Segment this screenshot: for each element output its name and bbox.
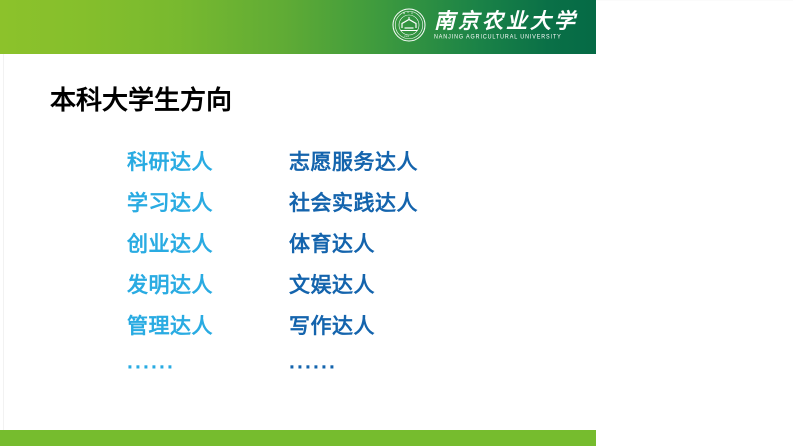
footer-band <box>0 430 596 446</box>
list-item: 管理达人 <box>127 306 289 347</box>
university-name-en: NANJING AGRICULTURAL UNIVERSITY <box>434 35 562 41</box>
list-item: 写作达人 <box>289 306 589 347</box>
list-item: 学习达人 <box>127 183 289 224</box>
list-item: 体育达人 <box>289 224 589 265</box>
list-item: 发明达人 <box>127 265 289 306</box>
list-item-ellipsis: ······ <box>289 347 589 388</box>
header-band: 国 立 大 1902 南京农业大学 NANJING AGRICULTURAL U… <box>0 0 596 54</box>
list-item: 文娱达人 <box>289 265 589 306</box>
slide-left-edge <box>3 0 4 446</box>
list-item: 志愿服务达人 <box>289 142 589 183</box>
university-logo-text: 南京农业大学 NANJING AGRICULTURAL UNIVERSITY <box>434 10 578 40</box>
page-title: 本科大学生方向 <box>50 80 232 117</box>
list-item: 创业达人 <box>127 224 289 265</box>
list-item-ellipsis: ······ <box>127 347 289 388</box>
list-item: 科研达人 <box>127 142 289 183</box>
talent-categories: 科研达人 学习达人 创业达人 发明达人 管理达人 ······ 志愿服务达人 社… <box>127 142 589 388</box>
university-logo: 国 立 大 1902 南京农业大学 NANJING AGRICULTURAL U… <box>392 8 578 42</box>
university-seal-icon: 国 立 大 1902 <box>392 8 426 42</box>
talent-column-right: 志愿服务达人 社会实践达人 体育达人 文娱达人 写作达人 ······ <box>289 142 589 388</box>
svg-text:1902: 1902 <box>404 36 410 38</box>
list-item: 社会实践达人 <box>289 183 589 224</box>
svg-text:国: 国 <box>403 11 405 15</box>
talent-column-left: 科研达人 学习达人 创业达人 发明达人 管理达人 ······ <box>127 142 289 388</box>
university-name-cn: 南京农业大学 <box>434 10 578 31</box>
svg-text:立: 立 <box>407 10 409 14</box>
slide-canvas: 国 立 大 1902 南京农业大学 NANJING AGRICULTURAL U… <box>0 0 793 446</box>
